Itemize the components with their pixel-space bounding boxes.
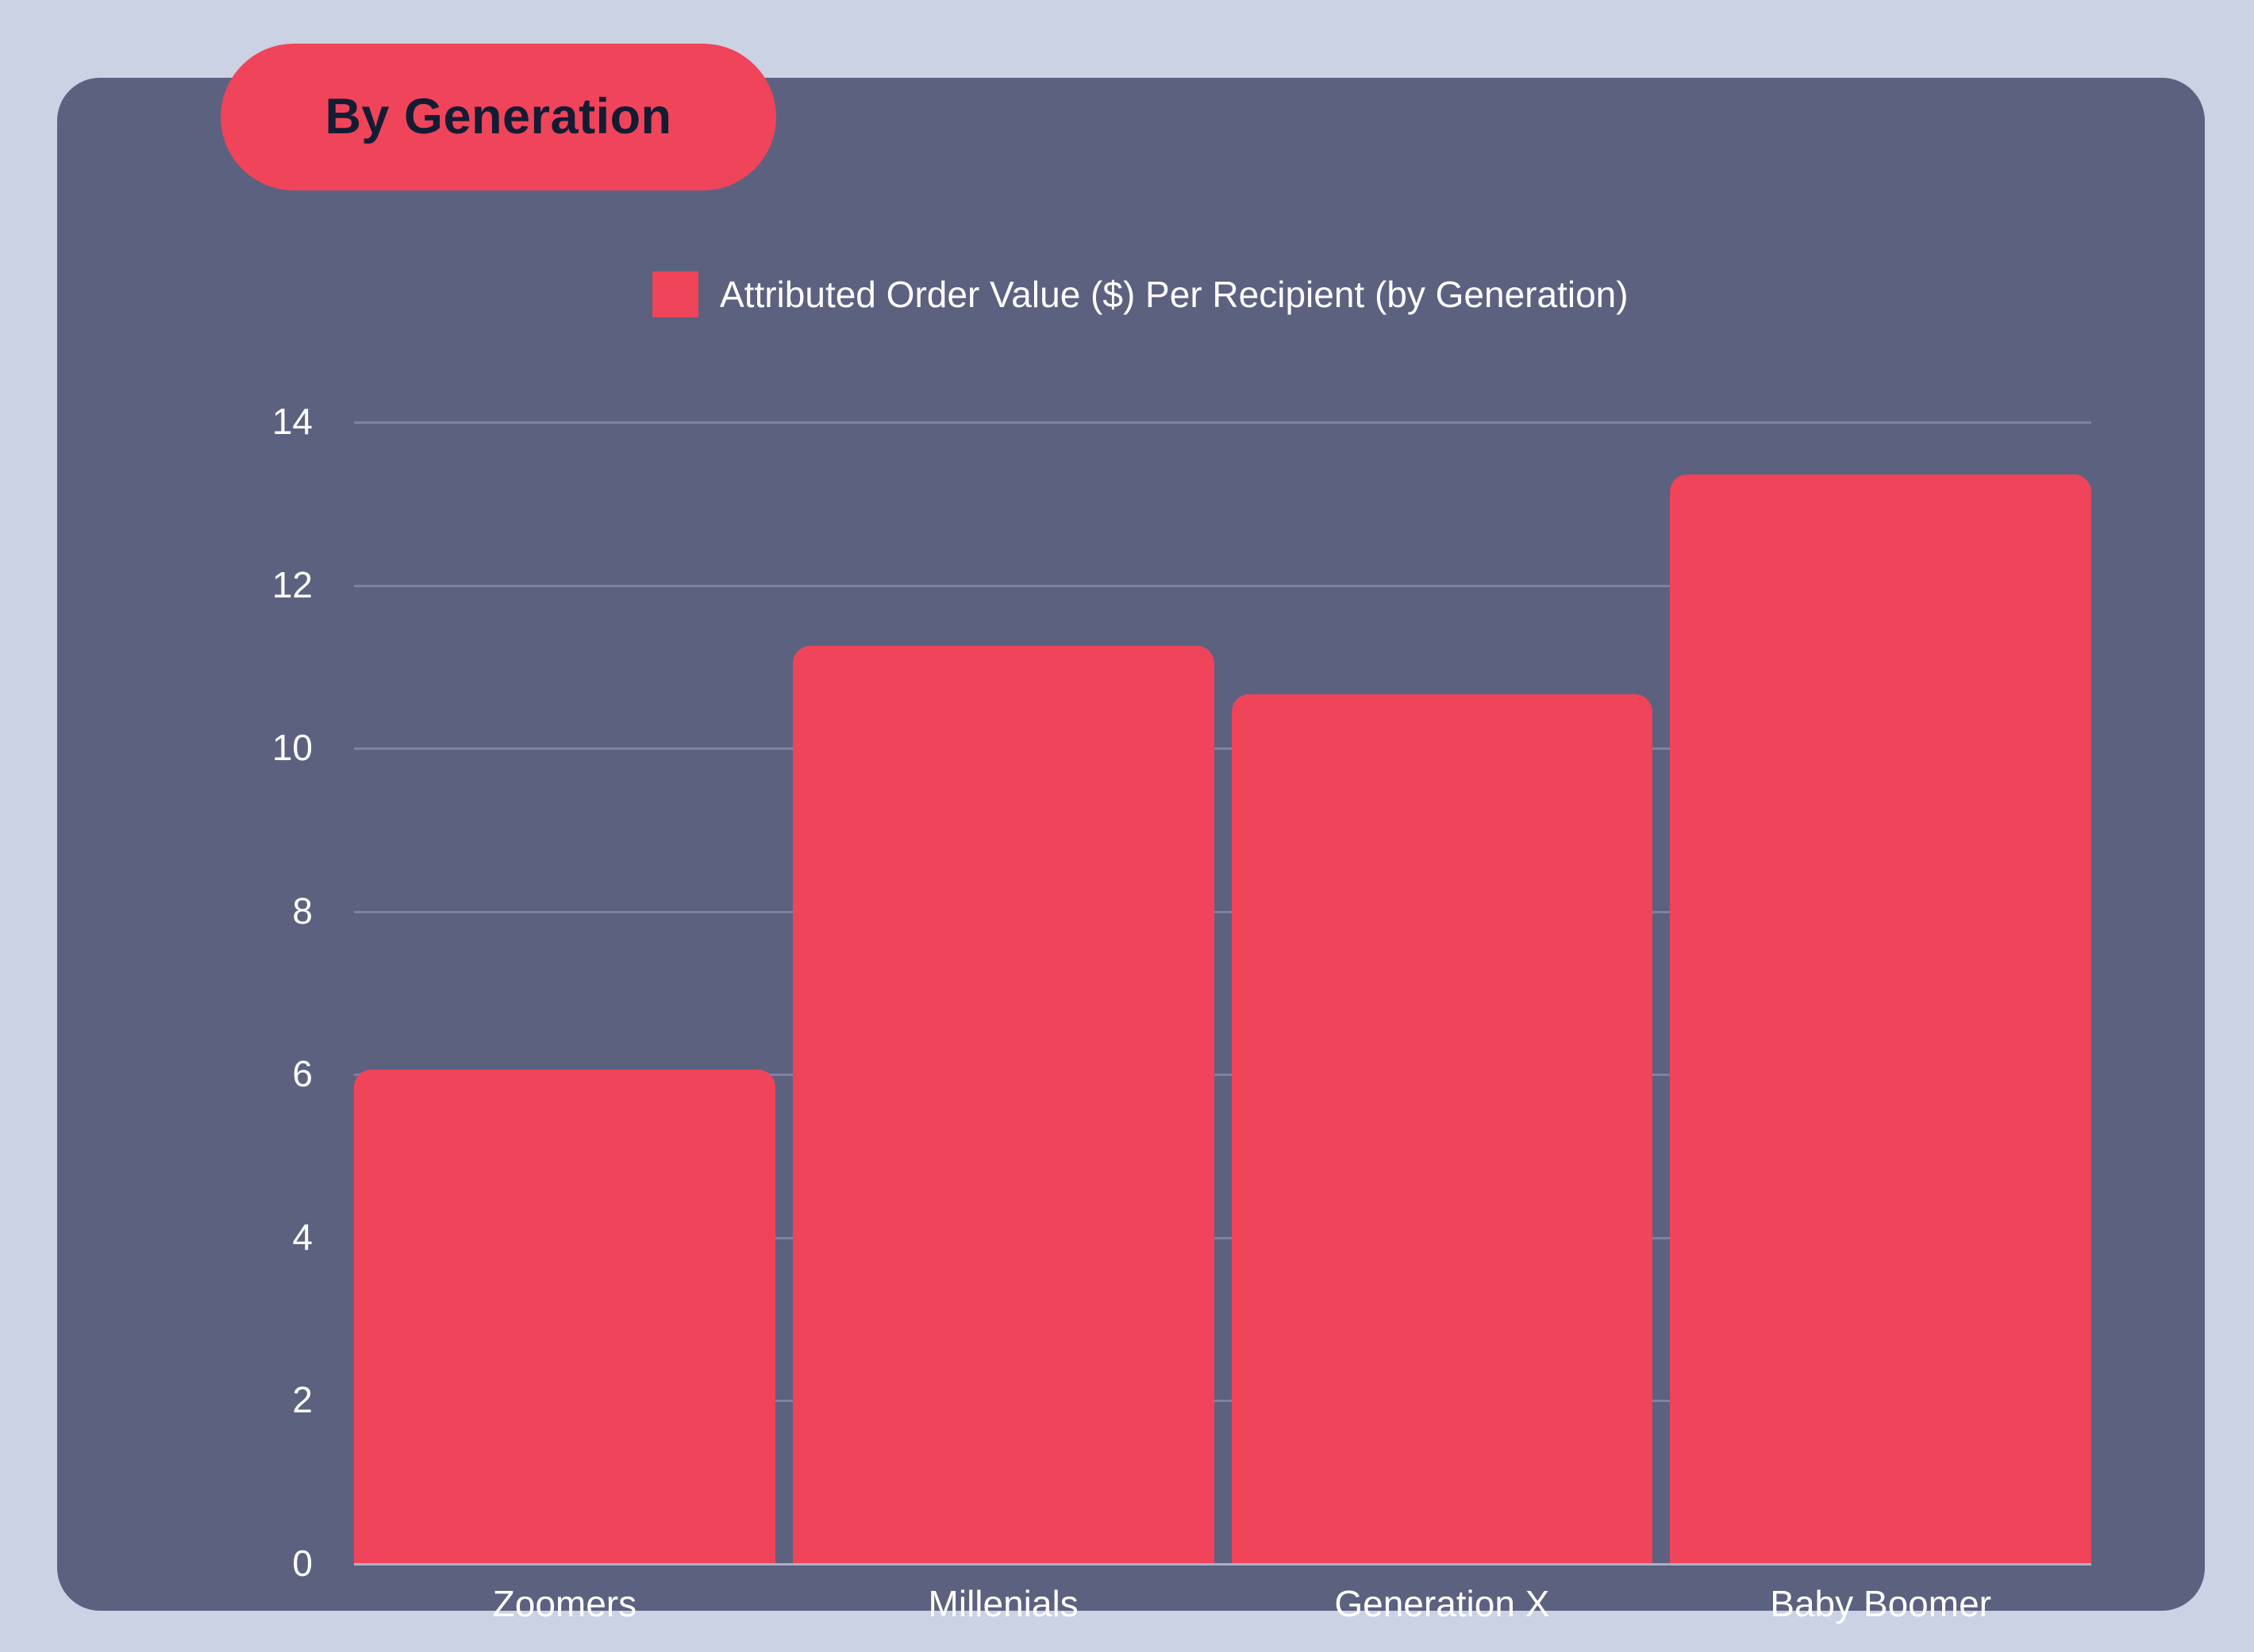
y-axis-tick: 14 (272, 403, 354, 440)
y-axis-tick: 10 (272, 729, 354, 766)
bar-series (354, 421, 2091, 1563)
x-axis-tick-labels: ZoomersMillenialsGeneration XBaby Boomer (354, 1585, 2091, 1641)
bar[interactable] (354, 1070, 775, 1563)
x-axis-tick: Zoomers (493, 1585, 637, 1622)
x-axis-tick: Millenials (929, 1585, 1079, 1622)
gridline (354, 1563, 2091, 1566)
plot-area (354, 421, 2091, 1563)
y-axis-tick: 12 (272, 567, 354, 603)
bar[interactable] (1670, 474, 2091, 1563)
chart-title-pill[interactable]: By Generation (221, 44, 776, 190)
bar[interactable] (793, 646, 1214, 1563)
chart-legend[interactable]: Attributed Order Value ($) Per Recipient… (652, 271, 1629, 317)
y-axis-tick: 8 (292, 893, 354, 929)
y-axis-tick: 2 (292, 1381, 354, 1418)
x-axis-tick: Generation X (1334, 1585, 1549, 1622)
y-axis-tick: 4 (292, 1219, 354, 1255)
chart-page: 02468101214 ZoomersMillenialsGeneration … (0, 0, 2254, 1652)
y-axis-tick: 0 (292, 1545, 354, 1581)
legend-swatch-icon (652, 271, 698, 317)
chart-title-label: By Generation (325, 92, 671, 142)
bar[interactable] (1232, 694, 1653, 1563)
legend-item-label: Attributed Order Value ($) Per Recipient… (720, 276, 1629, 313)
y-axis-tick: 6 (292, 1055, 354, 1092)
x-axis-tick: Baby Boomer (1770, 1585, 1991, 1622)
